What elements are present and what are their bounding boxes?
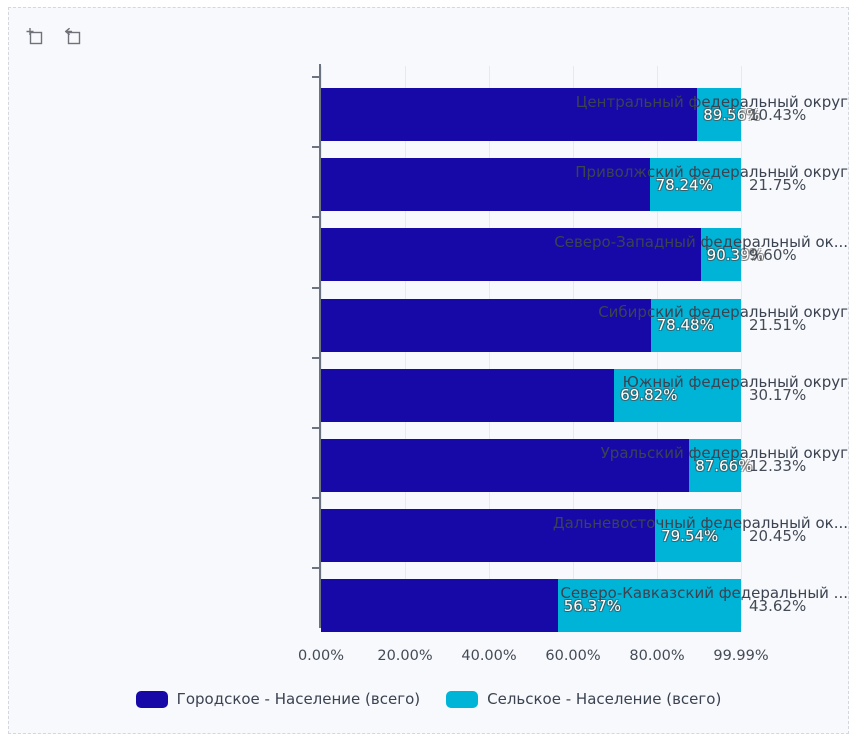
category-label: Приволжский федеральный округ <box>548 163 848 181</box>
axis-tick <box>312 76 321 78</box>
legend-swatch <box>446 691 478 708</box>
chart-legend: Городское - Население (всего)Сельское - … <box>9 690 848 708</box>
chart-toolbar <box>21 22 85 50</box>
legend-label: Сельское - Население (всего) <box>487 690 721 708</box>
category-label: Южный федеральный округ <box>548 373 848 391</box>
add-annotation-icon <box>24 26 44 46</box>
x-tick-label: 0.00% <box>298 648 344 664</box>
reply-annotation-icon <box>62 26 82 46</box>
category-label: Северо-Западный федеральный ок... <box>548 233 848 251</box>
category-label: Дальневосточный федеральный ок... <box>548 514 848 532</box>
gridline <box>741 66 742 626</box>
reply-annotation-button[interactable] <box>59 23 85 49</box>
x-tick-label: 60.00% <box>545 648 600 664</box>
x-tick-label: 80.00% <box>629 648 684 664</box>
bar-segment-urban[interactable] <box>321 579 558 632</box>
axis-tick <box>312 567 321 569</box>
axis-tick <box>312 287 321 289</box>
legend-label: Городское - Население (всего) <box>177 690 420 708</box>
axis-tick <box>312 146 321 148</box>
axis-tick <box>312 497 321 499</box>
axis-tick <box>312 216 321 218</box>
category-label: Центральный федеральный округ <box>548 93 848 111</box>
axis-tick <box>312 427 321 429</box>
add-annotation-button[interactable] <box>21 23 47 49</box>
legend-item[interactable]: Городское - Население (всего) <box>136 690 420 708</box>
category-label: Сибирский федеральный округ <box>548 303 848 321</box>
chart-plot-region: 89.56%10.43%78.24%21.75%90.39%9.60%78.48… <box>9 54 848 669</box>
category-label: Северо-Кавказский федеральный ... <box>548 584 848 602</box>
visualization-container: 89.56%10.43%78.24%21.75%90.39%9.60%78.48… <box>8 7 849 734</box>
legend-item[interactable]: Сельское - Население (всего) <box>446 690 721 708</box>
legend-swatch <box>136 691 168 708</box>
category-label: Уральский федеральный округ <box>548 444 848 462</box>
bars-plot: 89.56%10.43%78.24%21.75%90.39%9.60%78.48… <box>321 66 741 626</box>
x-tick-label: 20.00% <box>377 648 432 664</box>
axis-tick <box>312 357 321 359</box>
x-tick-label: 99.99% <box>713 648 768 664</box>
x-tick-label: 40.00% <box>461 648 516 664</box>
